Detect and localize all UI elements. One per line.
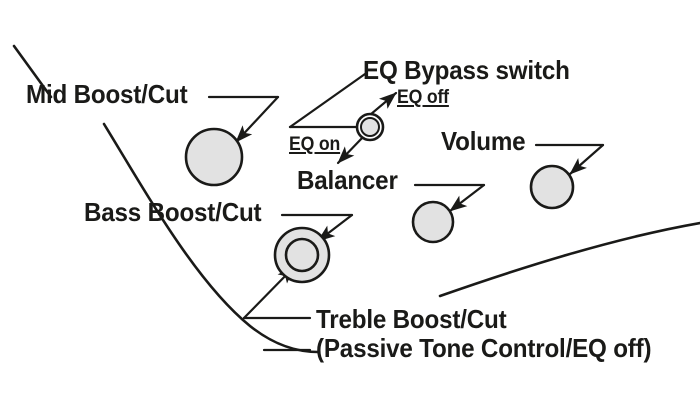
mid-knob[interactable] [186, 129, 242, 185]
label-eq-bypass-switch: EQ Bypass switch [363, 56, 570, 84]
label-eq-on: EQ on [289, 135, 340, 155]
diagram-canvas: Mid Boost/Cut EQ Bypass switch EQ off EQ… [0, 0, 700, 420]
label-balancer: Balancer [297, 166, 398, 194]
label-treble-boost-cut: Treble Boost/Cut [316, 305, 506, 333]
label-bass-boost-cut: Bass Boost/Cut [84, 198, 261, 226]
volume-knob[interactable] [531, 166, 573, 208]
label-mid-boost-cut: Mid Boost/Cut [26, 80, 187, 108]
leader-eqbypass-diagonal [290, 74, 365, 127]
leader-mid-arrow [236, 97, 278, 142]
eq-bypass-switch[interactable] [357, 114, 383, 140]
bass-treble-knob[interactable] [275, 228, 329, 282]
label-passive-tone-control: (Passive Tone Control/EQ off) [316, 334, 651, 362]
leader-balancer-arrow [450, 185, 484, 211]
label-volume: Volume [441, 127, 525, 155]
label-eq-off: EQ off [397, 88, 449, 108]
body-edge-right [440, 223, 700, 296]
leader-eqon-arrow [338, 136, 364, 163]
leader-volume-arrow [570, 145, 603, 174]
balancer-knob[interactable] [413, 202, 453, 242]
